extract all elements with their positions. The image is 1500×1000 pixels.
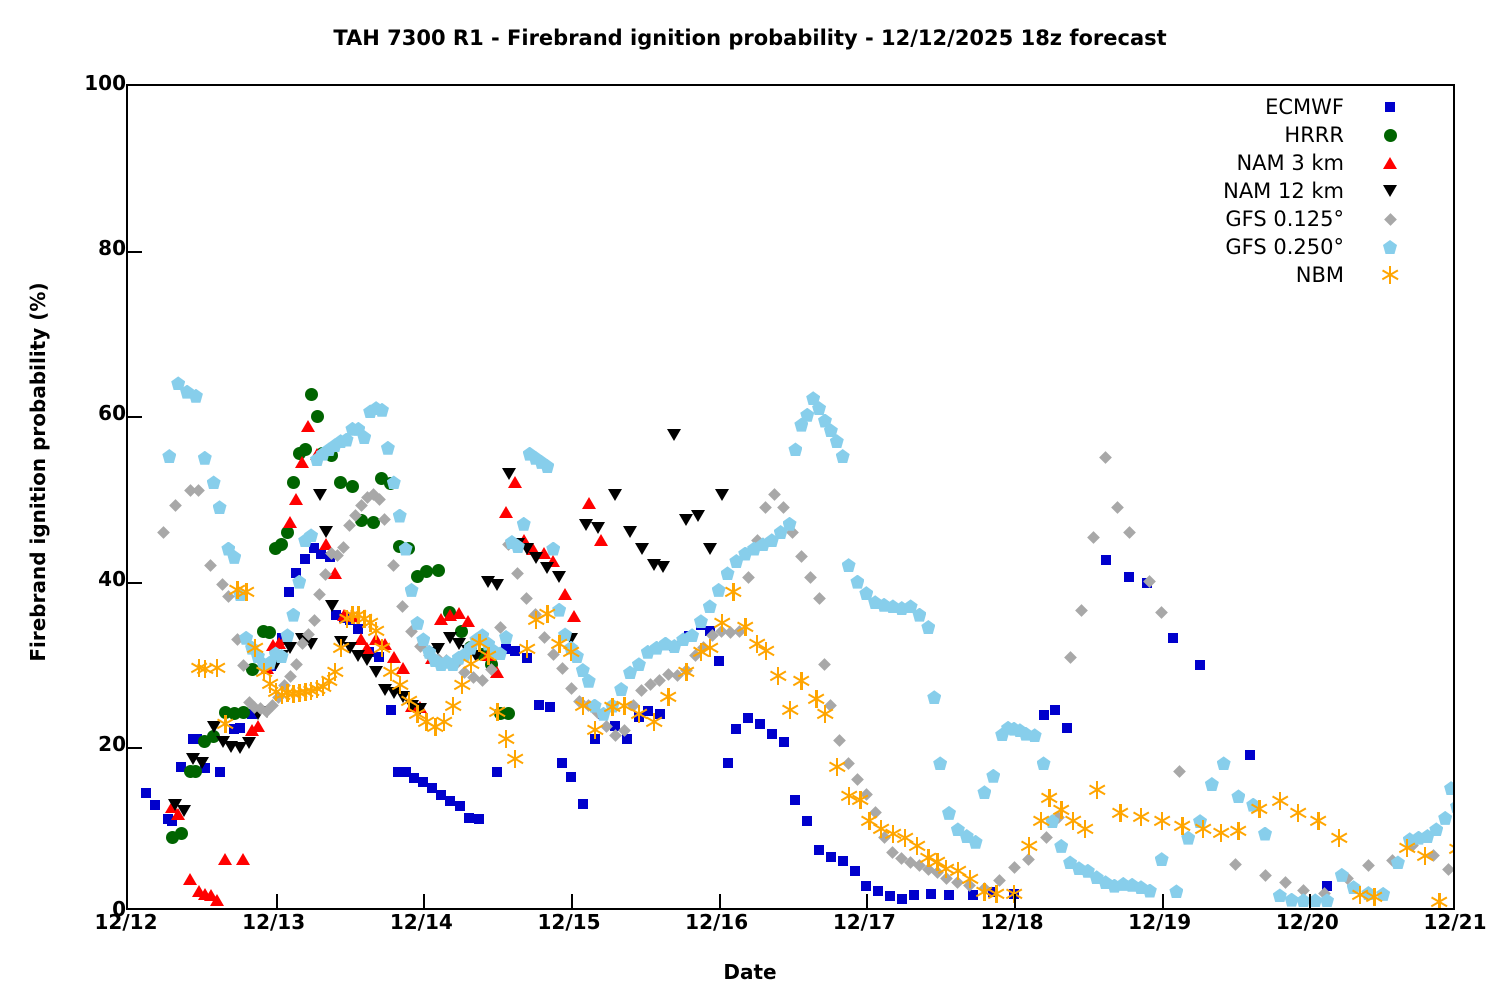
data-point bbox=[464, 813, 474, 823]
data-point bbox=[432, 564, 445, 577]
x-tick-label: 12/19 bbox=[1090, 910, 1230, 934]
data-point bbox=[1111, 804, 1129, 822]
data-point bbox=[1438, 811, 1452, 825]
data-point bbox=[162, 449, 176, 463]
data-point bbox=[850, 575, 864, 589]
x-tick-label: 12/16 bbox=[647, 910, 787, 934]
data-point bbox=[195, 757, 209, 769]
data-point bbox=[1296, 893, 1310, 907]
data-point bbox=[518, 640, 536, 658]
data-point bbox=[1212, 824, 1230, 842]
data-point bbox=[659, 688, 677, 706]
y-tick-label: 40 bbox=[66, 567, 126, 591]
y-tick-mark bbox=[128, 747, 142, 749]
data-point bbox=[1062, 723, 1072, 733]
data-point bbox=[566, 772, 576, 782]
data-point bbox=[314, 588, 327, 601]
data-point bbox=[769, 667, 787, 685]
data-point bbox=[757, 642, 775, 660]
data-point bbox=[488, 703, 506, 721]
data-point bbox=[1076, 820, 1094, 838]
data-point bbox=[623, 526, 637, 538]
data-point bbox=[826, 852, 836, 862]
data-point bbox=[703, 599, 717, 613]
data-point bbox=[1229, 858, 1242, 871]
data-point bbox=[242, 737, 256, 749]
data-point bbox=[1217, 756, 1231, 770]
data-point bbox=[701, 639, 719, 657]
data-point bbox=[694, 614, 708, 628]
data-point bbox=[462, 655, 480, 673]
data-point bbox=[767, 729, 777, 739]
data-point bbox=[1087, 531, 1100, 544]
data-point bbox=[1155, 606, 1168, 619]
data-point bbox=[236, 853, 250, 865]
data-point bbox=[305, 388, 318, 401]
data-point bbox=[373, 639, 391, 657]
data-point bbox=[779, 737, 789, 747]
data-point bbox=[565, 683, 578, 696]
data-point bbox=[1444, 781, 1453, 795]
data-point bbox=[216, 579, 229, 592]
data-point bbox=[287, 476, 300, 489]
data-point bbox=[479, 647, 497, 665]
x-tick-mark bbox=[571, 894, 573, 908]
data-point bbox=[1020, 837, 1038, 855]
data-point bbox=[768, 488, 781, 501]
data-point bbox=[150, 800, 160, 810]
data-point bbox=[1365, 888, 1383, 906]
data-point bbox=[632, 657, 646, 671]
data-point bbox=[289, 493, 303, 505]
data-point bbox=[455, 801, 465, 811]
data-point bbox=[1022, 854, 1035, 867]
legend-swatch-circle-icon bbox=[1380, 125, 1400, 145]
data-point bbox=[381, 441, 395, 455]
data-point bbox=[492, 767, 502, 777]
data-point bbox=[833, 734, 846, 747]
x-tick-label: 12/20 bbox=[1237, 910, 1377, 934]
data-point bbox=[873, 886, 883, 896]
y-tick-label: 20 bbox=[66, 732, 126, 756]
data-point bbox=[836, 449, 850, 463]
legend-label: GFS 0.250° bbox=[1225, 235, 1380, 259]
data-point bbox=[594, 534, 608, 546]
data-point bbox=[788, 442, 802, 456]
x-tick-mark bbox=[1309, 894, 1311, 908]
legend-label: GFS 0.125° bbox=[1225, 207, 1380, 231]
legend-swatch-pentagon-icon bbox=[1380, 237, 1400, 257]
data-point bbox=[743, 713, 753, 723]
data-point bbox=[986, 769, 1000, 783]
chart-page: TAH 7300 R1 - Firebrand ignition probabi… bbox=[0, 0, 1500, 1000]
data-point bbox=[379, 513, 392, 526]
data-point bbox=[851, 773, 864, 786]
data-point bbox=[207, 475, 221, 489]
data-point bbox=[1416, 847, 1434, 865]
data-point bbox=[777, 501, 790, 514]
data-point bbox=[1099, 451, 1112, 464]
x-tick-mark bbox=[423, 894, 425, 908]
data-point bbox=[987, 885, 1005, 903]
data-point bbox=[251, 720, 265, 732]
data-point bbox=[304, 528, 318, 542]
data-point bbox=[216, 715, 234, 733]
data-point bbox=[1008, 861, 1021, 874]
data-point bbox=[546, 542, 560, 556]
legend-label: HRRR bbox=[1284, 123, 1380, 147]
data-point bbox=[1037, 756, 1051, 770]
x-axis: 12/1212/1312/1412/1512/1612/1712/1812/19… bbox=[126, 910, 1455, 960]
data-point bbox=[790, 795, 800, 805]
y-tick-mark bbox=[128, 416, 142, 418]
data-point bbox=[538, 605, 556, 623]
data-point bbox=[301, 420, 315, 432]
data-point bbox=[326, 663, 344, 681]
data-point bbox=[578, 799, 588, 809]
data-point bbox=[1205, 777, 1219, 791]
x-tick-mark bbox=[866, 894, 868, 908]
data-point bbox=[435, 713, 453, 731]
data-point bbox=[802, 816, 812, 826]
data-point bbox=[1155, 852, 1169, 866]
data-point bbox=[490, 579, 504, 591]
y-tick-mark bbox=[128, 582, 142, 584]
data-point bbox=[1335, 868, 1349, 882]
data-point bbox=[1450, 799, 1453, 813]
data-point bbox=[562, 643, 580, 661]
data-point bbox=[608, 489, 622, 501]
data-point bbox=[567, 610, 581, 622]
data-point bbox=[1285, 893, 1299, 907]
data-point bbox=[755, 719, 765, 729]
legend-swatch-diamond-icon bbox=[1380, 209, 1400, 229]
legend-label: NAM 3 km bbox=[1236, 151, 1380, 175]
data-point bbox=[198, 451, 212, 465]
data-point bbox=[1153, 812, 1171, 830]
data-point bbox=[1398, 839, 1416, 857]
data-point bbox=[286, 608, 300, 622]
data-point bbox=[724, 583, 742, 601]
data-point bbox=[557, 758, 567, 768]
data-point bbox=[208, 659, 226, 677]
data-point bbox=[1050, 705, 1060, 715]
data-point bbox=[586, 721, 604, 739]
chart-title: TAH 7300 R1 - Firebrand ignition probabi… bbox=[0, 26, 1500, 50]
data-point bbox=[511, 567, 524, 580]
data-point bbox=[1231, 789, 1245, 803]
data-point bbox=[193, 484, 206, 497]
data-point bbox=[1271, 792, 1289, 810]
data-point bbox=[1289, 804, 1307, 822]
data-point bbox=[169, 499, 182, 512]
y-tick-label: 80 bbox=[66, 236, 126, 260]
data-point bbox=[885, 891, 895, 901]
y-tick-mark bbox=[128, 251, 142, 253]
data-point bbox=[1273, 888, 1287, 902]
data-point bbox=[534, 700, 544, 710]
data-point bbox=[1111, 501, 1124, 514]
legend-item-hrrr[interactable]: HRRR bbox=[1185, 121, 1400, 149]
data-point bbox=[703, 543, 717, 555]
data-point bbox=[842, 558, 856, 572]
data-point bbox=[386, 705, 396, 715]
x-tick-label: 12/18 bbox=[942, 910, 1082, 934]
data-point bbox=[444, 697, 462, 715]
x-tick-mark bbox=[1162, 894, 1164, 908]
data-point bbox=[290, 658, 303, 671]
data-point bbox=[204, 559, 217, 572]
legend-item-nbm[interactable]: NBM bbox=[1185, 261, 1400, 289]
data-point bbox=[474, 814, 484, 824]
data-point bbox=[721, 566, 735, 580]
legend-swatch-triangle-down-icon bbox=[1380, 181, 1400, 201]
x-tick-mark bbox=[719, 894, 721, 908]
x-tick-mark bbox=[1014, 894, 1016, 908]
data-point bbox=[218, 853, 232, 865]
data-point bbox=[1173, 765, 1186, 778]
data-point bbox=[246, 639, 264, 657]
data-point bbox=[275, 538, 288, 551]
data-point bbox=[499, 506, 513, 518]
data-point bbox=[1194, 820, 1212, 838]
data-point bbox=[215, 767, 225, 777]
data-point bbox=[502, 468, 516, 480]
data-point bbox=[235, 723, 245, 733]
data-point bbox=[346, 480, 359, 493]
chart-legend: ECMWFHRRRNAM 3 kmNAM 12 kmGFS 0.125°GFS … bbox=[1185, 93, 1400, 289]
legend-label: NAM 12 km bbox=[1223, 179, 1380, 203]
data-point bbox=[850, 866, 860, 876]
data-point bbox=[795, 550, 808, 563]
data-point bbox=[783, 517, 797, 531]
data-point bbox=[582, 497, 596, 509]
x-axis-label: Date bbox=[0, 960, 1500, 984]
data-point bbox=[367, 622, 385, 640]
data-point bbox=[177, 805, 191, 817]
data-point bbox=[1442, 863, 1453, 876]
data-point bbox=[213, 500, 227, 514]
x-tick-label: 12/14 bbox=[351, 910, 491, 934]
data-point bbox=[723, 758, 733, 768]
data-point bbox=[461, 615, 475, 627]
data-point bbox=[445, 796, 455, 806]
data-point bbox=[574, 697, 592, 715]
data-point bbox=[175, 827, 188, 840]
legend-item-nam-3-km[interactable]: NAM 3 km bbox=[1185, 149, 1400, 177]
data-point bbox=[1054, 839, 1068, 853]
legend-item-ecmwf[interactable]: ECMWF bbox=[1185, 93, 1400, 121]
data-point bbox=[645, 713, 663, 731]
data-point bbox=[1279, 876, 1292, 889]
legend-item-gfs-0-125[interactable]: GFS 0.125° bbox=[1185, 205, 1400, 233]
data-point bbox=[731, 724, 741, 734]
data-point bbox=[792, 672, 810, 690]
data-point bbox=[1064, 651, 1077, 664]
data-point bbox=[1124, 572, 1134, 582]
data-point bbox=[714, 656, 724, 666]
x-tick-label: 12/17 bbox=[794, 910, 934, 934]
data-point bbox=[1259, 869, 1272, 882]
data-point bbox=[391, 676, 409, 694]
data-point bbox=[506, 750, 524, 768]
data-point bbox=[677, 663, 695, 681]
data-point bbox=[405, 583, 419, 597]
data-point bbox=[851, 791, 869, 809]
data-point bbox=[781, 701, 799, 719]
data-point bbox=[1076, 604, 1089, 617]
data-point bbox=[332, 639, 350, 657]
data-point bbox=[1132, 808, 1150, 826]
data-point bbox=[742, 571, 755, 584]
data-point bbox=[942, 806, 956, 820]
data-point bbox=[520, 592, 533, 605]
data-point bbox=[804, 571, 817, 584]
data-point bbox=[715, 489, 729, 501]
data-point bbox=[1169, 884, 1183, 898]
data-point bbox=[552, 571, 566, 583]
data-point bbox=[387, 559, 400, 572]
data-point bbox=[814, 845, 824, 855]
data-point bbox=[420, 565, 433, 578]
data-point bbox=[591, 522, 605, 534]
x-tick-mark bbox=[276, 894, 278, 908]
data-point bbox=[800, 408, 814, 422]
data-point bbox=[813, 592, 826, 605]
data-point bbox=[1039, 710, 1049, 720]
data-point bbox=[210, 894, 224, 906]
legend-swatch-square-icon bbox=[1380, 97, 1400, 117]
data-point bbox=[635, 543, 649, 555]
data-point bbox=[545, 702, 555, 712]
data-point bbox=[921, 620, 935, 634]
data-point bbox=[1101, 555, 1111, 565]
data-point bbox=[819, 658, 832, 671]
data-point bbox=[308, 614, 321, 627]
data-point bbox=[760, 501, 773, 514]
x-tick-label: 12/12 bbox=[56, 910, 196, 934]
data-point bbox=[897, 894, 907, 904]
data-point bbox=[816, 705, 834, 723]
data-point bbox=[313, 489, 327, 501]
data-point bbox=[656, 561, 670, 573]
data-point bbox=[453, 676, 471, 694]
data-point bbox=[410, 616, 424, 630]
data-point bbox=[1195, 660, 1205, 670]
data-point bbox=[828, 758, 846, 776]
data-point bbox=[927, 690, 941, 704]
data-point bbox=[691, 510, 705, 522]
legend-swatch-asterisk-icon bbox=[1380, 265, 1400, 285]
x-tick-label: 12/15 bbox=[499, 910, 639, 934]
data-point bbox=[1173, 817, 1191, 835]
data-point bbox=[1448, 840, 1453, 858]
data-point bbox=[614, 682, 628, 696]
data-point bbox=[944, 890, 954, 900]
x-tick-label: 12/21 bbox=[1385, 910, 1500, 934]
data-point bbox=[517, 517, 531, 531]
data-point bbox=[300, 554, 310, 564]
data-point bbox=[237, 583, 255, 601]
data-point bbox=[909, 890, 919, 900]
data-point bbox=[1040, 831, 1053, 844]
data-point bbox=[538, 631, 551, 644]
data-point bbox=[1430, 893, 1448, 908]
legend-swatch-triangle-up-icon bbox=[1380, 153, 1400, 173]
data-point bbox=[861, 881, 871, 891]
data-point bbox=[977, 785, 991, 799]
data-point bbox=[280, 628, 294, 642]
data-point bbox=[283, 516, 297, 528]
data-point bbox=[667, 429, 681, 441]
data-point bbox=[295, 456, 309, 468]
data-point bbox=[393, 509, 407, 523]
data-point bbox=[1168, 633, 1178, 643]
data-point bbox=[1123, 526, 1136, 539]
y-tick-label: 100 bbox=[66, 71, 126, 95]
data-point bbox=[1330, 829, 1348, 847]
data-point bbox=[141, 788, 151, 798]
data-point bbox=[319, 526, 333, 538]
data-point bbox=[556, 662, 569, 675]
y-tick-label: 60 bbox=[66, 401, 126, 425]
data-point bbox=[933, 756, 947, 770]
data-point bbox=[183, 873, 197, 885]
data-point bbox=[558, 588, 572, 600]
data-point bbox=[1088, 781, 1106, 799]
data-point bbox=[416, 632, 430, 646]
data-point bbox=[838, 856, 848, 866]
data-point bbox=[1362, 859, 1375, 872]
y-axis: 020406080100 bbox=[40, 84, 126, 910]
data-point bbox=[396, 600, 409, 613]
x-tick-label: 12/13 bbox=[204, 910, 344, 934]
data-point bbox=[1032, 812, 1050, 830]
data-point bbox=[1245, 750, 1255, 760]
legend-item-nam-12-km[interactable]: NAM 12 km bbox=[1185, 177, 1400, 205]
data-point bbox=[1229, 822, 1247, 840]
data-point bbox=[926, 889, 936, 899]
data-point bbox=[1309, 812, 1327, 830]
data-point bbox=[1258, 827, 1272, 841]
data-point bbox=[284, 587, 294, 597]
data-point bbox=[713, 614, 731, 632]
legend-item-gfs-0-250[interactable]: GFS 0.250° bbox=[1185, 233, 1400, 261]
legend-label: ECMWF bbox=[1265, 95, 1380, 119]
data-point bbox=[455, 625, 468, 638]
data-point bbox=[1250, 800, 1268, 818]
data-point bbox=[736, 618, 754, 636]
legend-label: NBM bbox=[1296, 263, 1380, 287]
data-point bbox=[157, 526, 170, 539]
data-point bbox=[497, 730, 515, 748]
